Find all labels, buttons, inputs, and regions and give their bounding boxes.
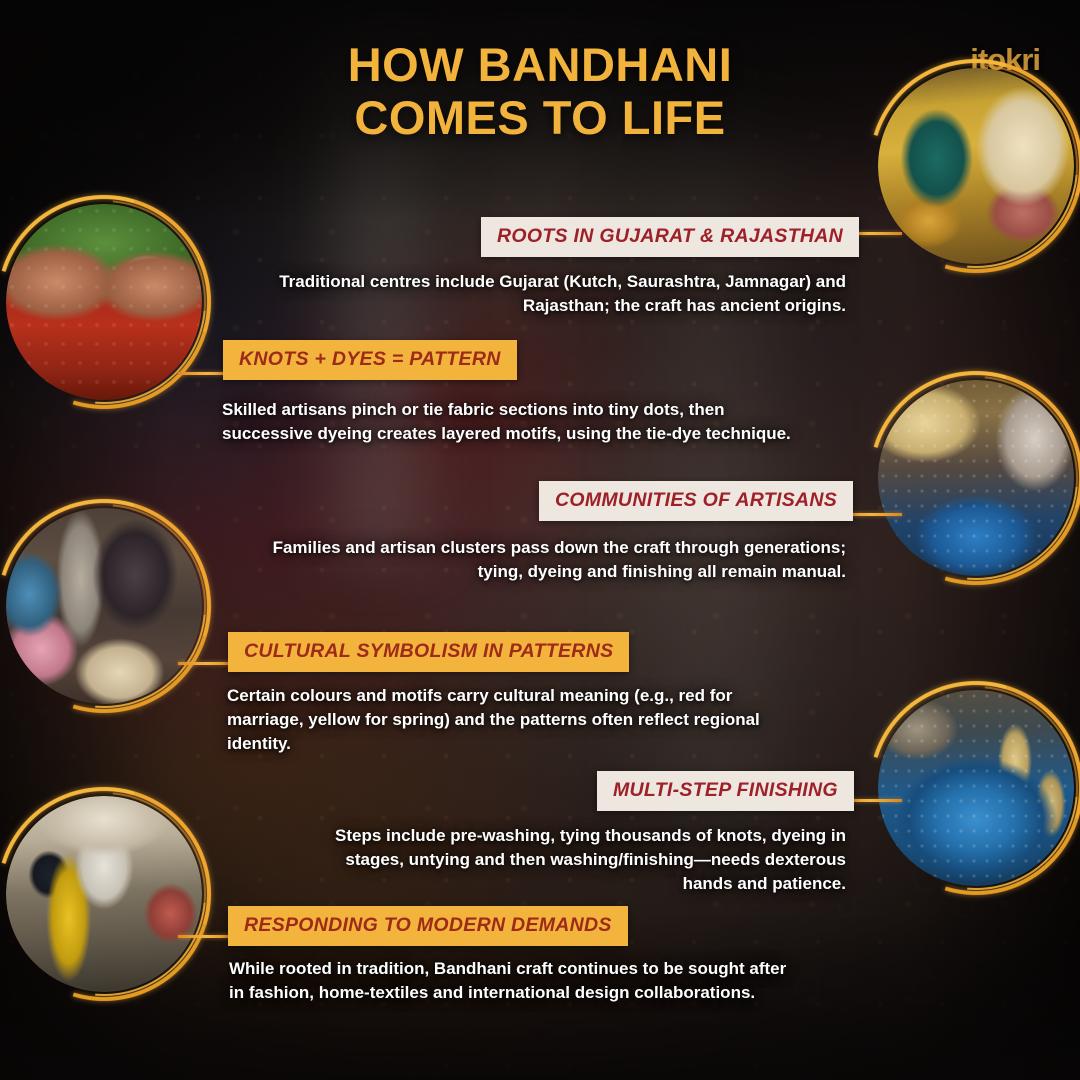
- photo-woman-shawl-image: [6, 508, 202, 704]
- section-header-knots-dyes-pattern[interactable]: KNOTS + DYES = PATTERN: [223, 340, 517, 380]
- photo-two-women-tying-knots: [878, 68, 1074, 264]
- section-body-knots-dyes-pattern: Skilled artisans pinch or tie fabric sec…: [222, 398, 812, 446]
- photo-two-women-image: [878, 68, 1074, 264]
- photo-artisan-dyeing-blue-tub: [878, 380, 1074, 576]
- water-sparkle-texture: [878, 690, 1074, 886]
- section-header-multi-step-finishing[interactable]: MULTI-STEP FINISHING: [597, 771, 854, 811]
- water-sparkle-texture: [878, 380, 1074, 576]
- page-title-line-1: HOW BANDHANI: [348, 38, 733, 91]
- photo-yellow-cloth-image: [6, 796, 202, 992]
- section-header-communities-of-artisans[interactable]: COMMUNITIES OF ARTISANS: [539, 481, 853, 521]
- photo-artisan-lifting-yellow-cloth: [6, 796, 202, 992]
- section-body-communities-of-artisans: Families and artisan clusters pass down …: [252, 536, 846, 584]
- section-body-responding-to-modern-demands: While rooted in tradition, Bandhani craf…: [229, 957, 793, 1005]
- photo-indigo-dye-vat: [878, 690, 1074, 886]
- section-body-roots-in-gujarat-rajasthan: Traditional centres include Gujarat (Kut…: [268, 270, 846, 318]
- section-body-multi-step-finishing: Steps include pre-washing, tying thousan…: [318, 824, 846, 896]
- photo-red-fabric-image: [6, 204, 202, 400]
- bandhani-dot-texture: [6, 204, 202, 400]
- photo-hands-tying-red-fabric: [6, 204, 202, 400]
- section-header-responding-to-modern-demands[interactable]: RESPONDING TO MODERN DEMANDS: [228, 906, 628, 946]
- section-header-cultural-symbolism-in-patterns[interactable]: CULTURAL SYMBOLISM IN PATTERNS: [228, 632, 629, 672]
- section-body-cultural-symbolism-in-patterns: Certain colours and motifs carry cultura…: [227, 684, 799, 756]
- photo-indigo-vat-image: [878, 690, 1074, 886]
- infographic-poster: HOW BANDHANI COMES TO LIFE itokri: [0, 0, 1080, 1080]
- section-header-roots-in-gujarat-rajasthan[interactable]: ROOTS IN GUJARAT & RAJASTHAN: [481, 217, 859, 257]
- photo-artisan-dyeing-image: [878, 380, 1074, 576]
- photo-woman-in-shawl-tying: [6, 508, 202, 704]
